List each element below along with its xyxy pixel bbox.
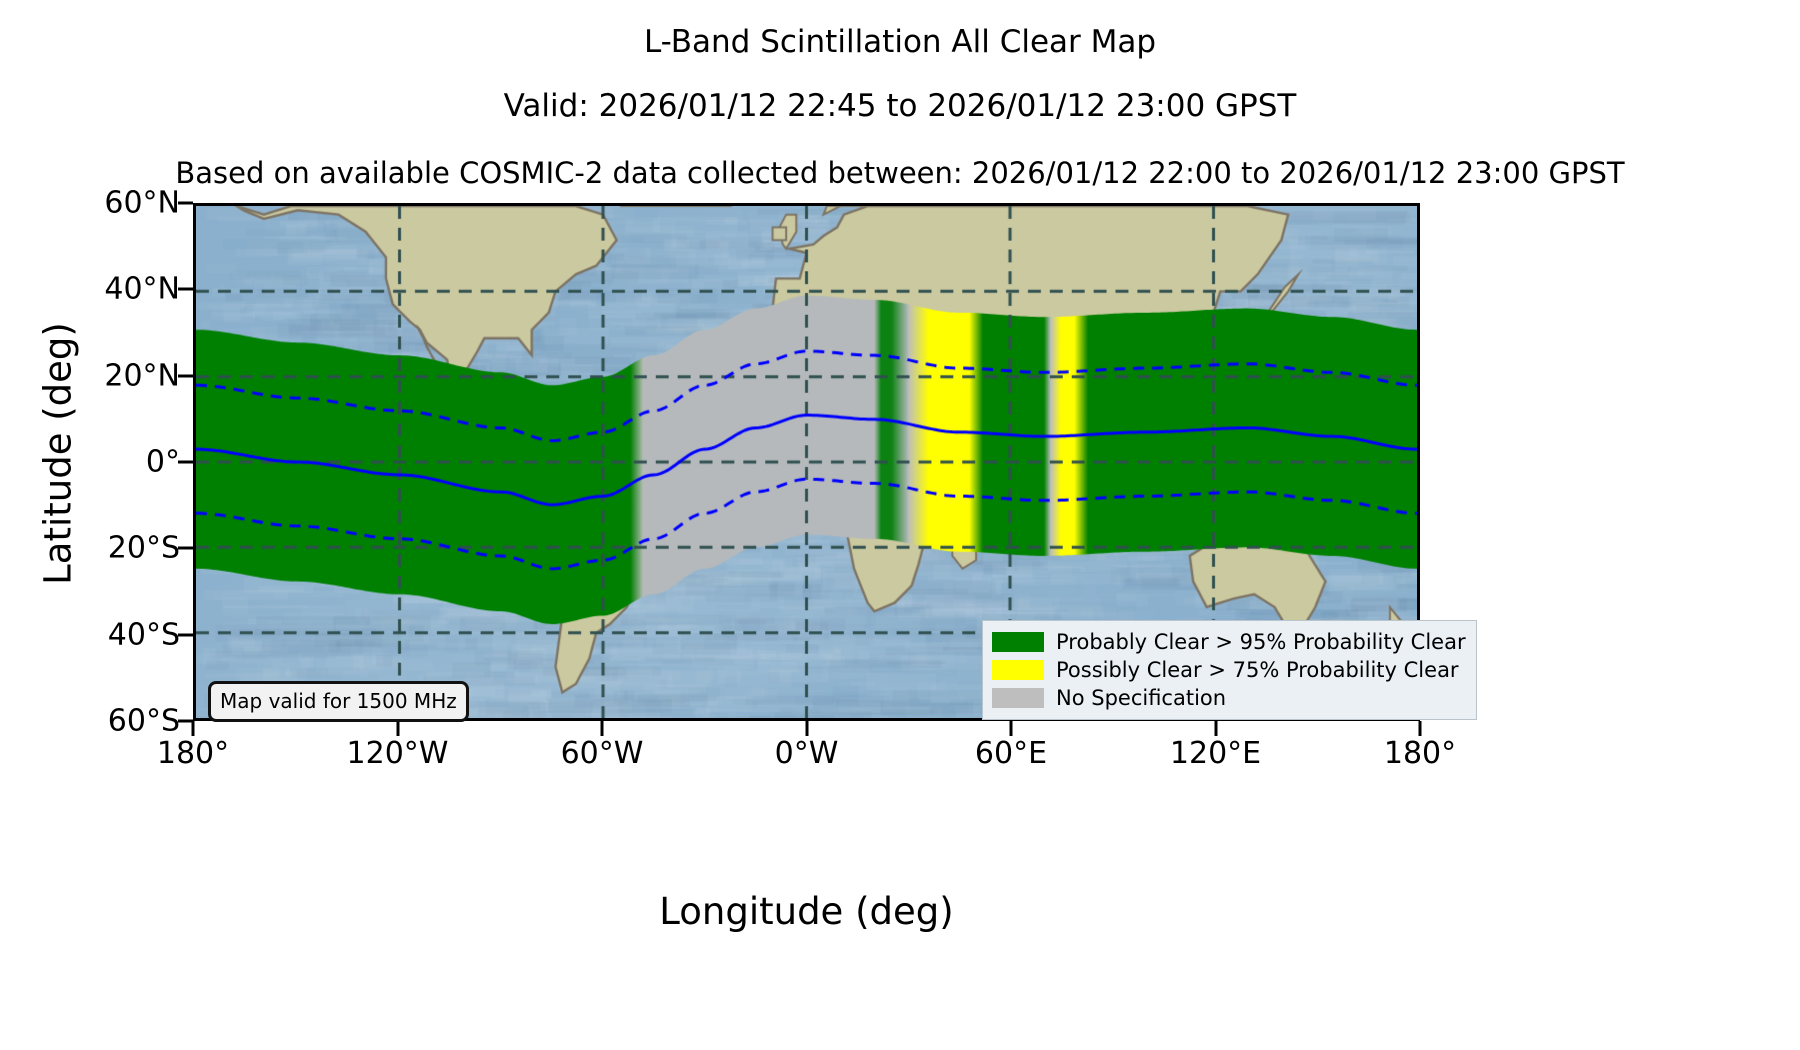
y-tick-label: 60°S [20, 704, 180, 739]
x-tick-label: 120°E [1116, 736, 1316, 771]
x-tick-label: 120°W [298, 736, 498, 771]
legend-item: No Specification [992, 684, 1466, 712]
x-tick-label: 60°E [911, 736, 1111, 771]
y-tick-mark [178, 288, 193, 291]
legend-label: Probably Clear > 95% Probability Clear [1056, 630, 1466, 654]
x-tick-mark [805, 721, 808, 736]
x-tick-mark [1010, 721, 1013, 736]
x-tick-mark [1419, 721, 1422, 736]
map-legend: Probably Clear > 95% Probability ClearPo… [982, 620, 1477, 720]
valid-time-subtitle: Valid: 2026/01/12 22:45 to 2026/01/12 23… [0, 88, 1800, 124]
page-title: L-Band Scintillation All Clear Map [0, 24, 1800, 60]
y-tick-mark [178, 547, 193, 550]
y-tick-mark [178, 374, 193, 377]
x-axis-label: Longitude (deg) [193, 890, 1420, 933]
legend-item: Possibly Clear > 75% Probability Clear [992, 656, 1466, 684]
x-tick-label: 180° [93, 736, 293, 771]
y-tick-label: 20°S [20, 531, 180, 566]
y-tick-label: 0° [20, 445, 180, 480]
x-tick-mark [192, 721, 195, 736]
x-tick-mark [601, 721, 604, 736]
x-tick-mark [1214, 721, 1217, 736]
y-tick-label: 40°S [20, 617, 180, 652]
figure-root: L-Band Scintillation All Clear Map Valid… [0, 0, 1800, 1050]
legend-label: Possibly Clear > 75% Probability Clear [1056, 658, 1459, 682]
legend-item: Probably Clear > 95% Probability Clear [992, 628, 1466, 656]
x-tick-label: 60°W [502, 736, 702, 771]
frequency-annotation: Map valid for 1500 MHz [208, 681, 469, 722]
x-tick-label: 180° [1320, 736, 1520, 771]
y-tick-mark [178, 461, 193, 464]
y-tick-label: 20°N [20, 358, 180, 393]
x-tick-mark [396, 721, 399, 736]
y-tick-label: 60°N [20, 186, 180, 221]
y-tick-mark [178, 202, 193, 205]
y-tick-mark [178, 633, 193, 636]
legend-label: No Specification [1056, 686, 1226, 710]
data-source-subtitle: Based on available COSMIC-2 data collect… [0, 156, 1800, 190]
x-tick-label: 0°W [707, 736, 907, 771]
y-tick-label: 40°N [20, 272, 180, 307]
legend-swatch [992, 632, 1044, 652]
legend-swatch [992, 688, 1044, 708]
legend-swatch [992, 660, 1044, 680]
